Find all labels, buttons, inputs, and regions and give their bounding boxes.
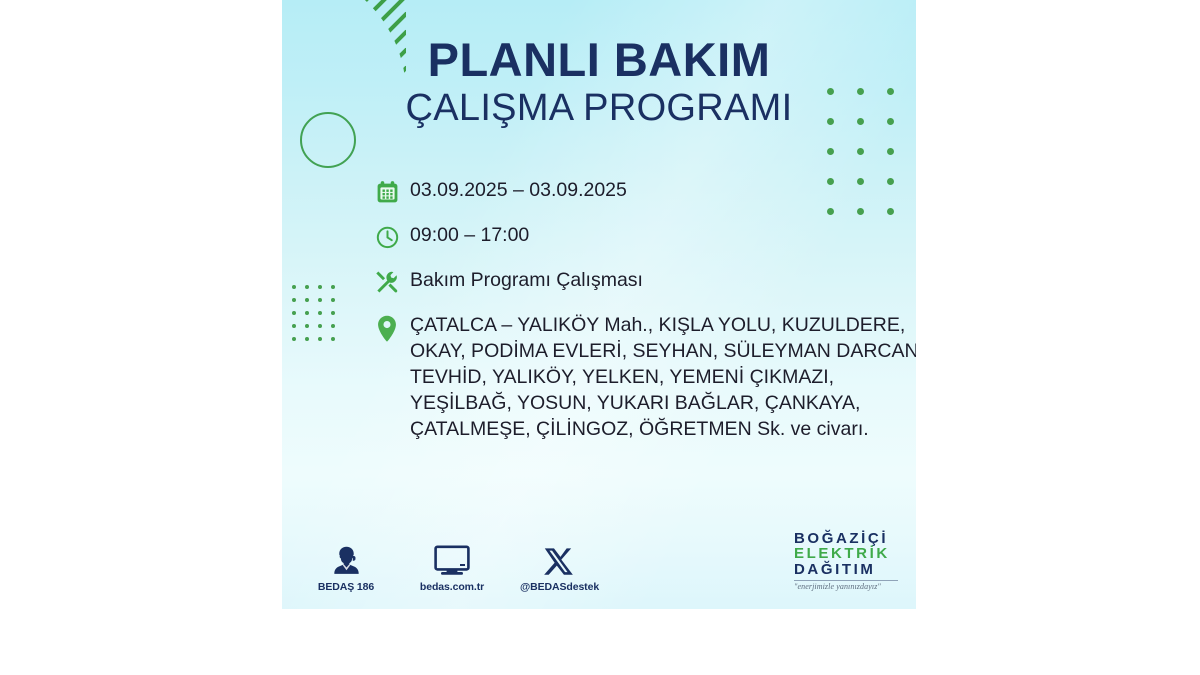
info-row-time: 09:00 – 17:00 (370, 223, 900, 254)
logo-divider (794, 580, 898, 581)
logo-line-dagitim: DAĞITIM (794, 562, 898, 577)
dot (292, 298, 296, 302)
bedas-logo: BOĞAZİÇİ ELEKTRİK DAĞITIM "enerjimizle y… (794, 531, 898, 591)
info-row-date: 03.09.2025 – 03.09.2025 (370, 178, 900, 209)
logo-line-bogazici: BOĞAZİÇİ (794, 531, 898, 546)
address-line: TEVHİD, YALIKÖY, YELKEN, YEMENİ ÇIKMAZI, (410, 365, 916, 391)
contact-website[interactable]: bedas.com.tr (414, 537, 490, 593)
clock-icon (370, 223, 404, 254)
calendar-icon (370, 178, 404, 209)
poster-info-block: 03.09.2025 – 03.09.2025 09:00 – 17:00 (370, 178, 900, 443)
poster-title-sub: ÇALIŞMA PROGRAMI (282, 87, 916, 130)
dot (292, 285, 296, 289)
dot (292, 311, 296, 315)
poster-title-main: PLANLI BAKIM (282, 32, 916, 87)
dot (305, 285, 309, 289)
screenshot-canvas: PLANLI BAKIM ÇALIŞMA PROGRAMI (0, 0, 1200, 675)
dot (331, 311, 335, 315)
dot (827, 148, 834, 155)
dot (305, 298, 309, 302)
info-row-address: ÇATALCA – YALIKÖY Mah., KIŞLA YOLU, KUZU… (370, 313, 900, 443)
dot (331, 337, 335, 341)
date-range-text: 03.09.2025 – 03.09.2025 (404, 178, 627, 203)
contact-phone[interactable]: BEDAŞ 186 (308, 537, 384, 593)
dot (331, 285, 335, 289)
contact-phone-label: BEDAŞ 186 (308, 581, 384, 593)
poster-footer: BEDAŞ 186 bedas.com.tr (282, 527, 916, 593)
address-text: ÇATALCA – YALIKÖY Mah., KIŞLA YOLU, KUZU… (404, 313, 916, 443)
logo-line-elektrik: ELEKTRİK (794, 546, 898, 561)
call-center-agent-icon (308, 537, 384, 577)
dot (887, 148, 894, 155)
address-line: YEŞİLBAĞ, YOSUN, YUKARI BAĞLAR, ÇANKAYA, (410, 391, 916, 417)
dot (318, 324, 322, 328)
dot (305, 324, 309, 328)
time-range-text: 09:00 – 17:00 (404, 223, 529, 248)
tools-icon (370, 268, 404, 299)
monitor-icon (414, 537, 490, 577)
dot (292, 324, 296, 328)
dot (318, 285, 322, 289)
address-line: ÇATALMEŞE, ÇİLİNGOZ, ÖĞRETMEN Sk. ve civ… (410, 417, 916, 443)
dot (318, 337, 322, 341)
dot (292, 337, 296, 341)
maintenance-announcement-poster: PLANLI BAKIM ÇALIŞMA PROGRAMI (282, 0, 916, 609)
contact-list: BEDAŞ 186 bedas.com.tr (308, 537, 596, 593)
dot (857, 148, 864, 155)
dot (318, 311, 322, 315)
contact-x-account[interactable]: @BEDASdestek (520, 537, 596, 593)
dot (331, 298, 335, 302)
dot (305, 311, 309, 315)
x-twitter-icon (520, 537, 596, 577)
logo-tagline: "enerjimizle yanınızdayız" (794, 583, 898, 591)
address-line: ÇATALCA – YALIKÖY Mah., KIŞLA YOLU, KUZU… (410, 313, 916, 339)
work-type-text: Bakım Programı Çalışması (404, 268, 643, 293)
dot (318, 298, 322, 302)
location-pin-icon (370, 313, 404, 345)
info-row-work-type: Bakım Programı Çalışması (370, 268, 900, 299)
contact-website-label: bedas.com.tr (414, 581, 490, 593)
dot (331, 324, 335, 328)
dot-grid-left-decoration (292, 285, 344, 350)
contact-x-label: @BEDASdestek (520, 581, 596, 593)
dot (305, 337, 309, 341)
address-line: OKAY, PODİMA EVLERİ, SEYHAN, SÜLEYMAN DA… (410, 339, 916, 365)
